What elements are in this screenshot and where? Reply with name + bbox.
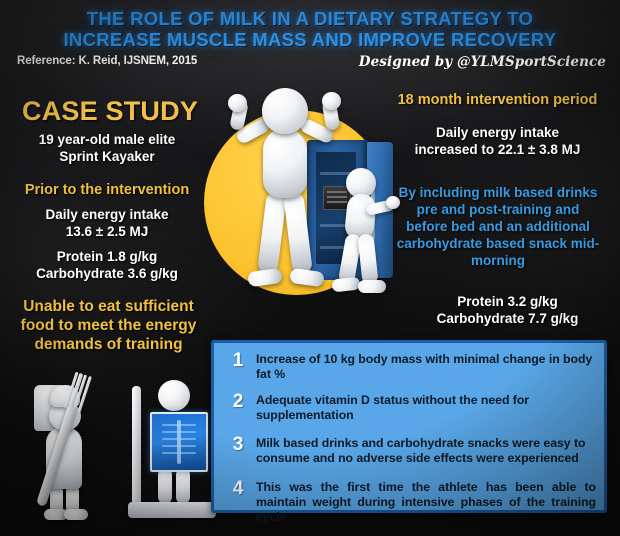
figure-leg: [176, 468, 190, 504]
problem-statement: Unable to eat sufficient food to meet th…: [6, 297, 211, 354]
credit-row: Reference: K. Reid, IJSNEM, 2015 Designe…: [0, 55, 620, 75]
post-protein-value: Protein 3.2 g/kg: [400, 293, 615, 310]
figure-leg: [357, 233, 378, 284]
prior-intervention-heading: Prior to the intervention: [12, 182, 202, 198]
post-intake-label: Daily energy intake: [380, 124, 615, 141]
prior-intake-value: 13.6 ± 2.5 MJ: [12, 223, 202, 240]
outcome-number: 2: [220, 393, 256, 410]
outcome-text: This was the first time the athlete has …: [256, 480, 596, 525]
prior-energy-intake: Daily energy intake 13.6 ± 2.5 MJ: [12, 206, 202, 240]
figure-fist-right: [322, 92, 341, 110]
page-title-line-1: THE ROLE OF MILK IN A DIETARY STRATEGY T…: [0, 8, 620, 29]
outcome-item: 3 Milk based drinks and carbohydrate sna…: [220, 436, 596, 466]
xray-spine: [177, 420, 181, 464]
outcome-number: 1: [220, 352, 256, 369]
xray-rib: [162, 424, 196, 426]
problem-line-3: demands of training: [6, 335, 211, 354]
intervention-line-3: before bed and an additional: [378, 218, 618, 235]
problem-line-1: Unable to eat sufficient: [6, 297, 211, 316]
figure-torso: [263, 128, 307, 198]
xray-rib: [162, 431, 196, 433]
figure-fist-left: [228, 94, 247, 112]
outcome-text: Increase of 10 kg body mass with minimal…: [256, 352, 596, 382]
figure-leg: [158, 468, 172, 504]
intervention-line-2: pre and post-training and: [378, 201, 618, 218]
outcome-item: 1 Increase of 10 kg body mass with minim…: [220, 352, 596, 382]
figure-foot: [247, 268, 283, 288]
figure-foot: [64, 509, 88, 520]
post-macronutrients: Protein 3.2 g/kg Carbohydrate 7.7 g/kg: [400, 293, 615, 327]
flexing-muscles-figure: [226, 88, 346, 303]
outcome-text: Adequate vitamin D status without the ne…: [256, 393, 596, 423]
problem-line-2: food to meet the energy: [6, 316, 211, 335]
figure-foot: [289, 268, 325, 288]
xray-rib: [162, 445, 196, 447]
subject-description: 19 year-old male elite Sprint Kayaker: [12, 131, 202, 165]
outcome-item: 2 Adequate vitamin D status without the …: [220, 393, 596, 423]
intervention-line-5: morning: [378, 252, 618, 269]
scale-base: [128, 502, 216, 518]
figure-head: [158, 380, 190, 411]
xray-rib: [162, 452, 196, 454]
designer-credit: Designed by @YLMSportScience: [359, 54, 606, 70]
xray-rib: [162, 438, 196, 440]
page-title-line-2: INCREASE MUSCLE MASS AND IMPROVE RECOVER…: [0, 29, 620, 50]
outcomes-panel: 1 Increase of 10 kg body mass with minim…: [211, 340, 607, 513]
outcome-number: 3: [220, 436, 256, 453]
figure-leg: [283, 191, 313, 275]
outcome-number: 4: [220, 480, 256, 497]
prior-intake-label: Daily energy intake: [12, 206, 202, 223]
intervention-line-4: carbohydrate based snack mid-: [378, 235, 618, 252]
prior-macronutrients: Protein 1.8 g/kg Carbohydrate 3.6 g/kg: [12, 248, 202, 282]
subject-line-1: 19 year-old male elite: [12, 131, 202, 148]
figure-with-body-scan: [128, 380, 223, 520]
prior-protein-value: Protein 1.8 g/kg: [12, 248, 202, 265]
case-study-heading: CASE STUDY: [22, 96, 198, 127]
scanner-post: [132, 386, 141, 506]
intervention-line-1: By including milk based drinks: [378, 184, 618, 201]
prior-carbohydrate-value: Carbohydrate 3.6 g/kg: [12, 265, 202, 282]
header: THE ROLE OF MILK IN A DIETARY STRATEGY T…: [0, 8, 620, 50]
intervention-period-heading: 18 month intervention period: [380, 92, 615, 108]
outcome-item: 4 This was the first time the athlete ha…: [220, 480, 596, 525]
body-xray-panel: [150, 412, 208, 472]
figure-foot: [358, 280, 386, 293]
reference-citation: Reference: K. Reid, IJSNEM, 2015: [17, 55, 197, 67]
subject-line-2: Sprint Kayaker: [12, 148, 202, 165]
infographic-canvas: THE ROLE OF MILK IN A DIETARY STRATEGY T…: [0, 0, 620, 536]
post-intake-value: increased to 22.1 ± 3.8 MJ: [380, 141, 615, 158]
post-carbohydrate-value: Carbohydrate 7.7 g/kg: [400, 310, 615, 327]
figure-head: [262, 88, 308, 134]
post-energy-intake: Daily energy intake increased to 22.1 ± …: [380, 124, 615, 158]
figure-leg: [257, 191, 287, 275]
intervention-description: By including milk based drinks pre and p…: [378, 184, 618, 269]
outcome-text: Milk based drinks and carbohydrate snack…: [256, 436, 596, 466]
